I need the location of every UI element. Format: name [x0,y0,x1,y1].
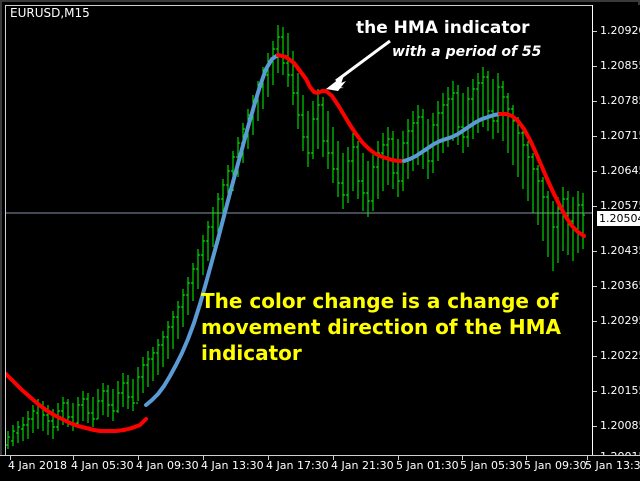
time-label: 5 Jan 09:30 [524,460,587,472]
price-label: 1.20365 [600,280,640,291]
price-tick [593,136,597,137]
price-tick [593,31,597,32]
price-tick [593,206,597,207]
ohlc-bar-group [6,25,585,449]
price-tick [593,321,597,322]
price-label: 1.20715 [600,130,640,141]
time-label: 5 Jan 13:30 [585,460,640,472]
price-scale[interactable]: 1.209201.208551.207851.207151.206451.205… [592,5,640,455]
price-label: 1.20920 [600,25,640,36]
chart-plot-area[interactable] [5,5,592,455]
price-tick [593,171,597,172]
price-tick [593,391,597,392]
annotation-color-change-note: The color change is a change of movement… [201,288,561,366]
chart-canvas [6,6,592,455]
price-label: 1.20085 [600,420,640,431]
price-label: 1.20295 [600,315,640,326]
time-label: 5 Jan 05:30 [460,460,523,472]
price-label: 1.20225 [600,350,640,361]
time-label: 4 Jan 2018 [8,460,67,472]
price-tick [593,356,597,357]
chart-window: EURUSD,M15 the HMA indicator with a peri… [0,0,640,480]
annotation-hma-subtitle: with a period of 55 [392,44,541,61]
symbol-title: EURUSD,M15 [10,6,90,20]
price-label: 1.20645 [600,165,640,176]
time-label: 4 Jan 21:30 [331,460,394,472]
price-label: 1.20155 [600,385,640,396]
price-tick [593,426,597,427]
time-label: 4 Jan 05:30 [71,460,134,472]
current-price-label: 1.20504 [596,210,640,227]
time-label: 4 Jan 09:30 [136,460,199,472]
chart-svg [6,6,592,455]
annotation-note-line-3: indicator [201,340,561,366]
price-tick [593,286,597,287]
price-tick [593,251,597,252]
price-tick [593,66,597,67]
price-label: 1.20435 [600,245,640,256]
price-tick [593,101,597,102]
annotation-arrow-icon [310,35,400,95]
time-label: 5 Jan 01:30 [396,460,459,472]
time-label: 4 Jan 13:30 [201,460,264,472]
price-label: 1.20785 [600,95,640,106]
time-label: 4 Jan 17:30 [266,460,329,472]
price-label: 1.20855 [600,60,640,71]
annotation-note-line-1: The color change is a change of [201,288,561,314]
annotation-note-line-2: movement direction of the HMA [201,314,561,340]
time-axis[interactable]: 4 Jan 20184 Jan 05:304 Jan 09:304 Jan 13… [0,455,640,481]
